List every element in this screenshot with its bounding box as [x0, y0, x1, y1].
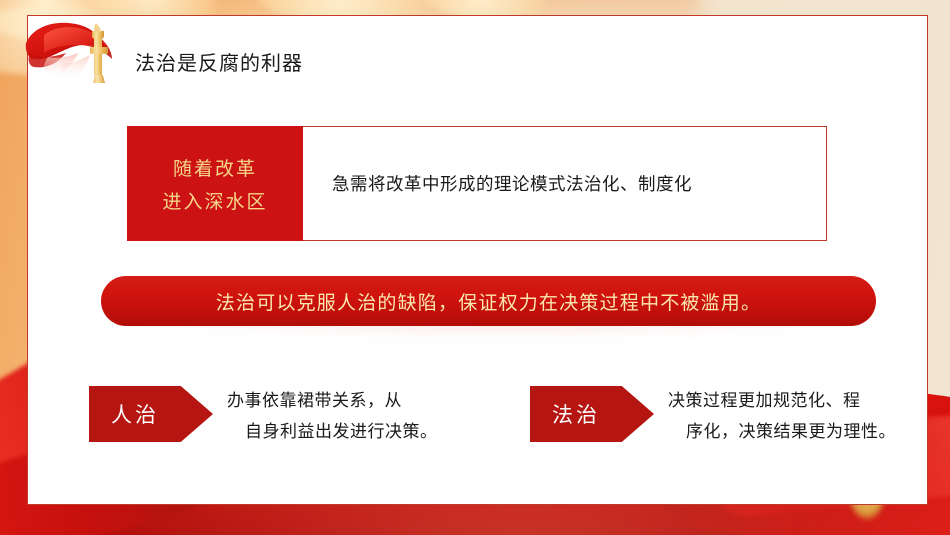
red-flag-and-gold-column-icon: [24, 13, 136, 91]
renzhi-line2: 自身利益出发进行决策。: [227, 417, 493, 448]
slide-header: 法治是反腐的利器: [28, 16, 927, 88]
premise-label-box: 随着改革 进入深水区: [127, 126, 303, 241]
renzhi-line1: 办事依靠裙带关系，从: [227, 391, 402, 411]
arrow-tag-renzhi: 人治: [89, 386, 213, 442]
slide-content-card: 法治是反腐的利器 随着改革 进入深水区 急需将改革中形成的理论模式法治化、制度化…: [27, 15, 928, 505]
premise-row: 随着改革 进入深水区 急需将改革中形成的理论模式法治化、制度化: [127, 126, 827, 241]
key-message-banner: 法治可以克服人治的缺陷，保证权力在决策过程中不被滥用。: [101, 276, 891, 338]
premise-statement: 急需将改革中形成的理论模式法治化、制度化: [303, 126, 827, 241]
fazhi-line1: 决策过程更加规范化、程: [668, 391, 861, 411]
fazhi-line2: 序化，决策结果更为理性。: [668, 417, 950, 448]
comparison-text-fazhi: 决策过程更加规范化、程 序化，决策结果更为理性。: [668, 386, 950, 448]
premise-label-line2: 进入深水区: [162, 187, 267, 214]
comparison-item-renzhi: 人治 办事依靠裙带关系，从 自身利益出发进行决策。: [89, 386, 493, 448]
page-title: 法治是反腐的利器: [135, 47, 303, 76]
banner-pill: 法治可以克服人治的缺陷，保证权力在决策过程中不被滥用。: [101, 276, 876, 326]
arrow-tag-fazhi: 法治: [530, 386, 654, 442]
comparison-item-fazhi: 法治 决策过程更加规范化、程 序化，决策结果更为理性。: [530, 386, 950, 448]
premise-label-line1: 随着改革: [173, 154, 257, 181]
comparison-text-renzhi: 办事依靠裙带关系，从 自身利益出发进行决策。: [227, 386, 493, 448]
